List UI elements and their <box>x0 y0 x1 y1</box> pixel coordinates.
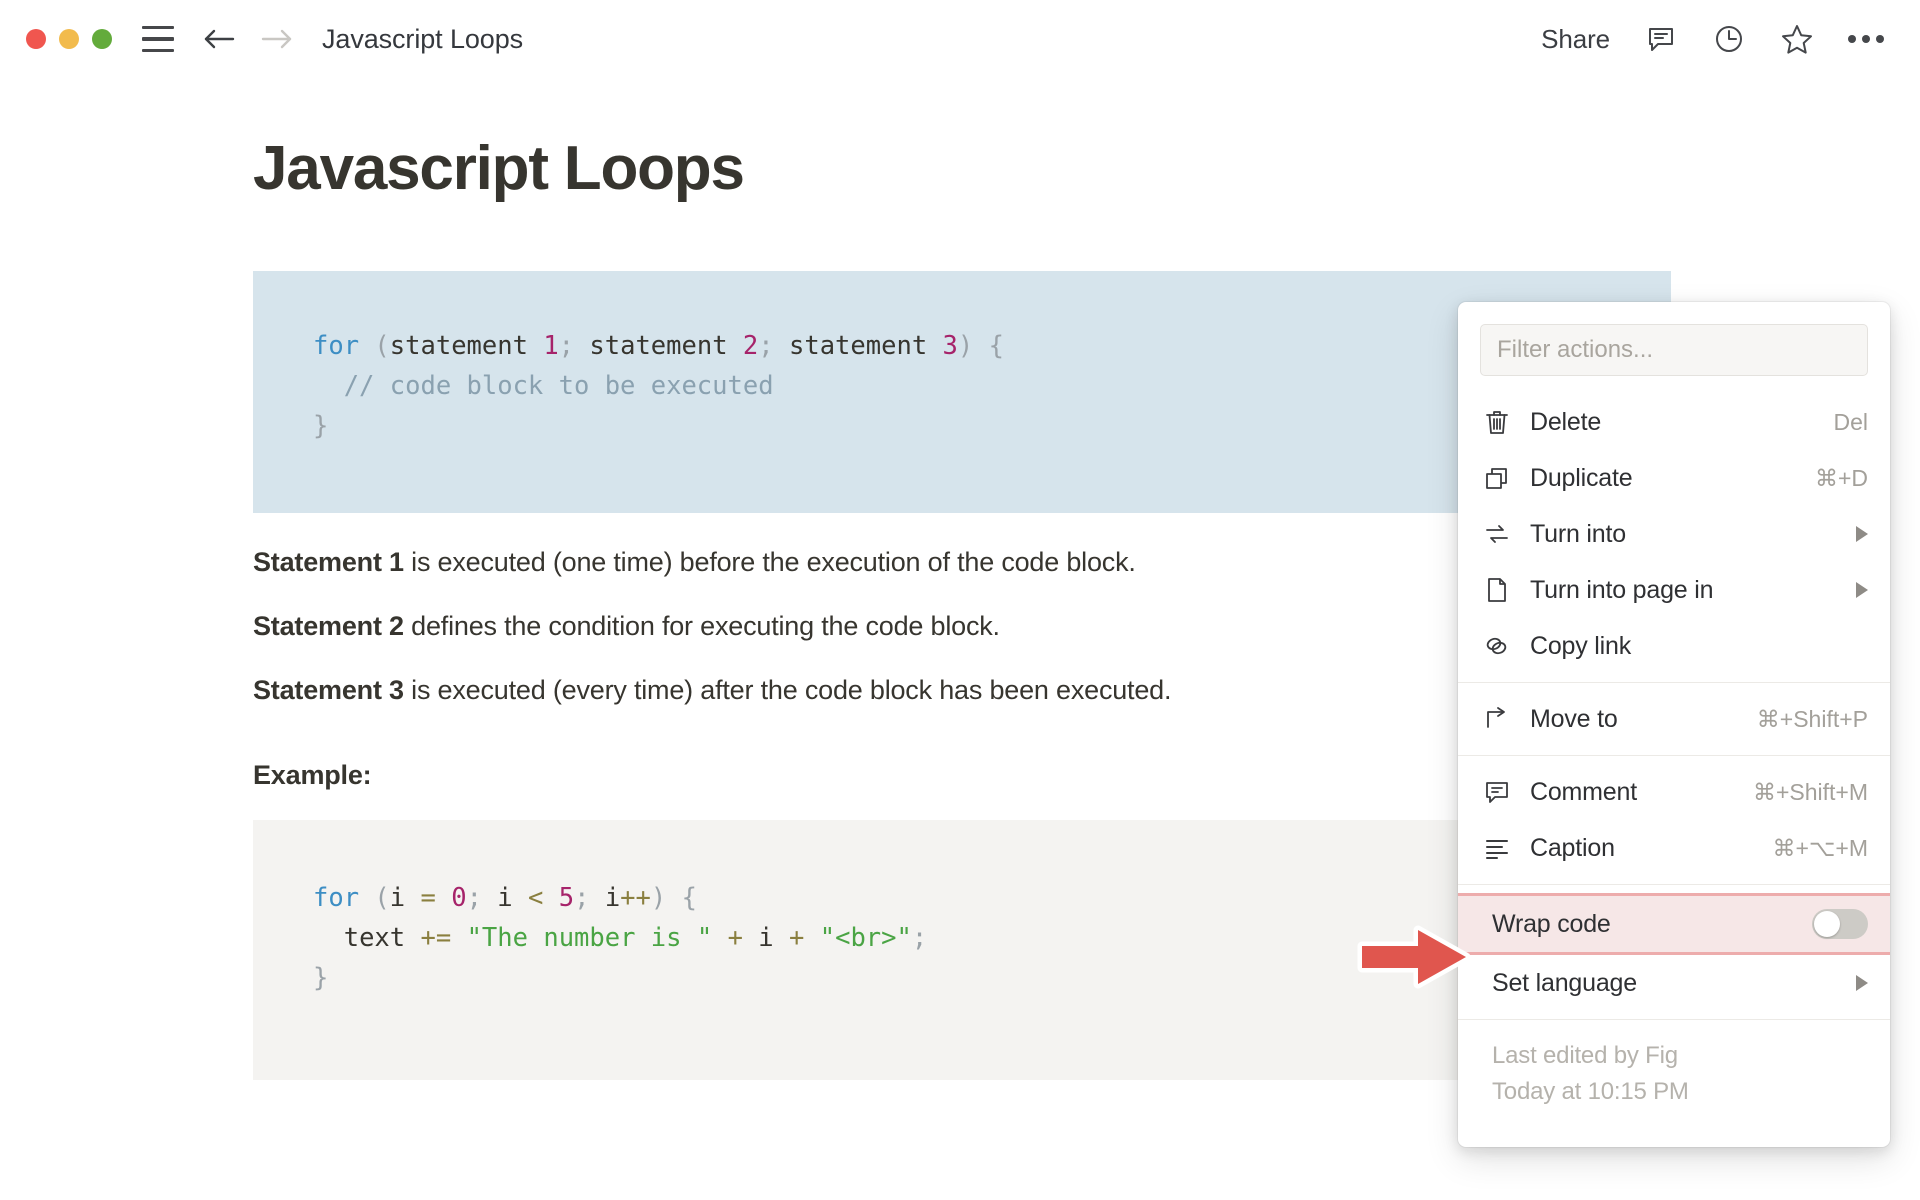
code-token: 5 <box>559 883 574 913</box>
code-token: statement <box>390 331 528 361</box>
comment-icon <box>1480 775 1514 809</box>
code-token <box>405 923 420 953</box>
filter-actions-input[interactable] <box>1480 324 1868 376</box>
code-token <box>743 923 758 953</box>
menu-item-label: Set language <box>1492 969 1637 998</box>
menu-item-move-to[interactable]: Move to⌘+Shift+P <box>1458 691 1890 747</box>
share-button[interactable]: Share <box>1541 24 1610 55</box>
code-token: ; <box>574 883 605 913</box>
menu-item-caption[interactable]: Caption⌘+⌥+M <box>1458 820 1890 876</box>
last-edited-time: Today at 10:15 PM <box>1492 1074 1856 1110</box>
code-token <box>359 331 374 361</box>
code-token <box>712 923 727 953</box>
paragraph-text: is executed (one time) before the execut… <box>404 547 1136 577</box>
code-token: ) { <box>958 331 1004 361</box>
code-token: i <box>390 883 405 913</box>
menu-item-label: Caption <box>1530 834 1615 863</box>
code-token: 1 <box>543 331 558 361</box>
paragraph-statement-3[interactable]: Statement 3 is executed (every time) aft… <box>253 671 1171 709</box>
move-to-icon <box>1480 702 1514 736</box>
app-window: Javascript Loops Share <box>0 0 1920 1190</box>
menu-item-label: Comment <box>1530 778 1637 807</box>
block-context-menu: DeleteDelDuplicate⌘+DTurn intoTurn into … <box>1458 302 1890 1147</box>
paragraph-statement-2[interactable]: Statement 2 defines the condition for ex… <box>253 607 1000 645</box>
code-token: ) { <box>651 883 697 913</box>
paragraph-text: defines the condition for executing the … <box>404 611 1000 641</box>
paragraph-bold-lead: Statement 2 <box>253 611 404 641</box>
code-token <box>728 331 743 361</box>
titlebar-actions: Share <box>1541 22 1884 56</box>
chevron-right-icon <box>1856 582 1868 598</box>
code-token <box>405 883 420 913</box>
context-menu-group: Move to⌘+Shift+P <box>1458 683 1890 755</box>
code-token <box>774 923 789 953</box>
minimize-window-button[interactable] <box>59 29 79 49</box>
code-token: + <box>728 923 743 953</box>
code-token: 0 <box>451 883 466 913</box>
code-token <box>313 923 344 953</box>
code-token: ; <box>758 331 789 361</box>
paragraph-text: is executed (every time) after the code … <box>404 675 1171 705</box>
code-token: for <box>313 331 359 361</box>
caption-icon <box>1480 831 1514 865</box>
clock-icon[interactable] <box>1712 22 1746 56</box>
menu-item-shortcut: Del <box>1833 409 1868 436</box>
code-token: } <box>313 963 328 993</box>
code-token <box>436 883 451 913</box>
comment-bubble-icon[interactable] <box>1644 22 1678 56</box>
code-token: statement <box>789 331 927 361</box>
menu-item-label: Wrap code <box>1492 910 1611 939</box>
navigation-arrows <box>202 22 294 56</box>
menu-item-shortcut: ⌘+Shift+P <box>1757 706 1868 733</box>
hamburger-icon[interactable] <box>142 26 174 52</box>
menu-item-shortcut: ⌘+Shift+M <box>1753 779 1868 806</box>
code-token: i <box>758 923 773 953</box>
screenshot-root: Javascript Loops Share <box>0 0 1920 1200</box>
code-token: < <box>528 883 543 913</box>
chevron-right-icon <box>1856 975 1868 991</box>
paragraph-statement-1[interactable]: Statement 1 is executed (one time) befor… <box>253 543 1136 581</box>
close-window-button[interactable] <box>26 29 46 49</box>
code-token: text <box>344 923 405 953</box>
code-token <box>543 883 558 913</box>
code-token: ; <box>467 883 498 913</box>
turn-into-icon <box>1480 517 1514 551</box>
paragraph-bold-lead: Statement 3 <box>253 675 404 705</box>
arrow-right-icon[interactable] <box>260 22 294 56</box>
code-token: // code block to be executed <box>313 371 774 401</box>
last-edited-by: Last edited by Fig <box>1492 1038 1856 1074</box>
code-token: 2 <box>743 331 758 361</box>
traffic-light-buttons[interactable] <box>26 29 112 49</box>
code-token: ( <box>374 883 389 913</box>
code-token: "The number is " <box>467 923 713 953</box>
toggle-knob <box>1814 911 1840 937</box>
code-token <box>513 883 528 913</box>
code-token: } <box>313 411 328 441</box>
hamburger-line <box>142 26 174 29</box>
menu-item-label: Turn into <box>1530 520 1626 549</box>
arrow-left-icon[interactable] <box>202 22 236 56</box>
code-token: statement <box>589 331 727 361</box>
example-label: Example: <box>253 760 371 791</box>
wrap-code-toggle[interactable] <box>1812 909 1868 939</box>
code-token: ; <box>912 923 927 953</box>
menu-item-delete[interactable]: DeleteDel <box>1458 394 1890 450</box>
filter-actions-wrapper <box>1458 302 1890 386</box>
context-menu-group: DeleteDelDuplicate⌘+DTurn intoTurn into … <box>1458 386 1890 682</box>
menu-item-label: Delete <box>1530 408 1601 437</box>
code-token <box>927 331 942 361</box>
menu-item-shortcut: ⌘+⌥+M <box>1772 835 1868 862</box>
hamburger-line <box>142 37 174 40</box>
code-token: for <box>313 883 359 913</box>
menu-item-label: Move to <box>1530 705 1618 734</box>
menu-item-turn-into-page-in[interactable]: Turn into page in <box>1458 562 1890 618</box>
duplicate-icon <box>1480 461 1514 495</box>
ellipsis-dot <box>1848 35 1856 43</box>
menu-item-duplicate[interactable]: Duplicate⌘+D <box>1458 450 1890 506</box>
menu-item-label: Copy link <box>1530 632 1631 661</box>
trash-icon <box>1480 405 1514 439</box>
code-token: ++ <box>620 883 651 913</box>
menu-item-wrap-code[interactable]: Wrap code <box>1458 893 1890 955</box>
star-icon[interactable] <box>1780 22 1814 56</box>
menu-item-label: Turn into page in <box>1530 576 1713 605</box>
code-token: "<br>" <box>820 923 912 953</box>
menu-item-shortcut: ⌘+D <box>1815 465 1868 492</box>
breadcrumb[interactable]: Javascript Loops <box>322 24 523 55</box>
ellipsis-icon[interactable] <box>1848 35 1884 43</box>
ellipsis-dot <box>1876 35 1884 43</box>
code-token: += <box>421 923 452 953</box>
code-token: 3 <box>943 331 958 361</box>
ellipsis-dot <box>1862 35 1870 43</box>
paragraph-bold-lead: Statement 1 <box>253 547 404 577</box>
menu-item-label: Duplicate <box>1530 464 1632 493</box>
chevron-right-icon <box>1856 526 1868 542</box>
code-token <box>451 923 466 953</box>
zoom-window-button[interactable] <box>92 29 112 49</box>
code-token: ( <box>374 331 389 361</box>
code-token: + <box>789 923 804 953</box>
page-icon <box>1480 573 1514 607</box>
code-token: = <box>421 883 436 913</box>
link-icon <box>1480 629 1514 663</box>
page-title[interactable]: Javascript Loops <box>253 133 744 204</box>
menu-item-comment[interactable]: Comment⌘+Shift+M <box>1458 764 1890 820</box>
menu-item-turn-into[interactable]: Turn into <box>1458 506 1890 562</box>
menu-footer: Last edited by Fig Today at 10:15 PM <box>1458 1020 1890 1110</box>
context-menu-groups: DeleteDelDuplicate⌘+DTurn intoTurn into … <box>1458 386 1890 884</box>
hamburger-line <box>142 49 174 52</box>
title-bar: Javascript Loops Share <box>0 0 1920 78</box>
code-token <box>359 883 374 913</box>
context-menu-group-code: Wrap code Set language <box>1458 885 1890 1019</box>
menu-item-copy-link[interactable]: Copy link <box>1458 618 1890 674</box>
menu-item-set-language[interactable]: Set language <box>1458 955 1890 1011</box>
code-token: i <box>605 883 620 913</box>
code-token: ; <box>559 331 590 361</box>
code-token <box>528 331 543 361</box>
code-token: i <box>497 883 512 913</box>
code-token <box>804 923 819 953</box>
context-menu-group: Comment⌘+Shift+MCaption⌘+⌥+M <box>1458 756 1890 884</box>
